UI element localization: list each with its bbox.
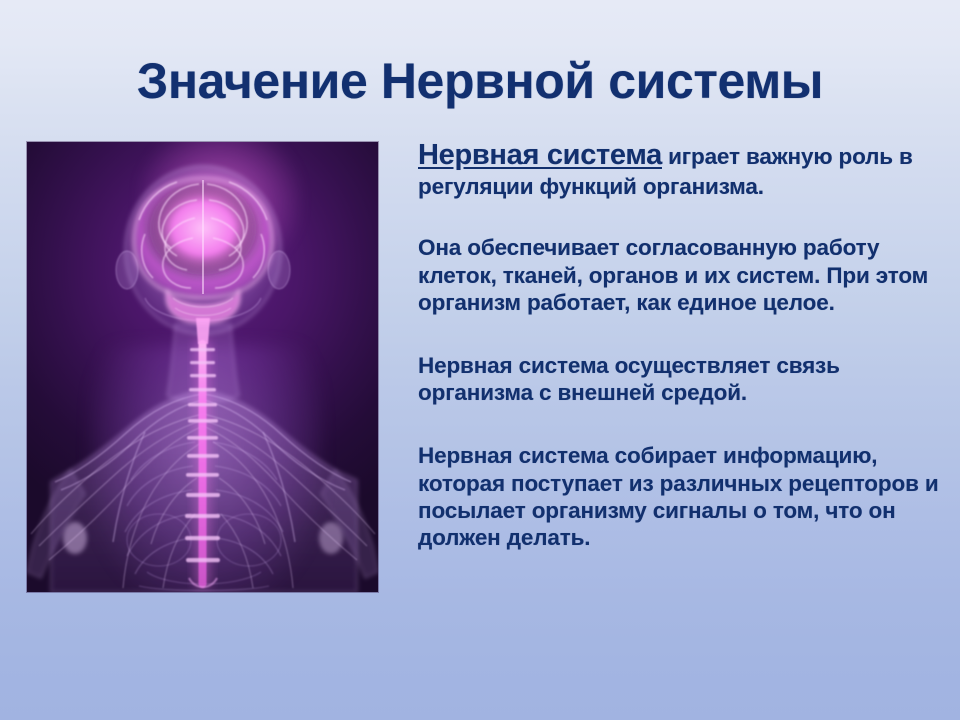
brain-stem: [196, 318, 210, 344]
brain: [133, 176, 273, 344]
anatomy-illustration-svg: [27, 142, 378, 592]
slide-title-container: Значение Нервной системы: [0, 20, 960, 141]
paragraph-3: Нервная система осуществляет связь орган…: [418, 352, 946, 406]
presentation-slide: Значение Нервной системы: [0, 0, 960, 720]
paragraph-2: Она обеспечивает согласованную работу кл…: [418, 234, 946, 316]
slide-text-column: Нервная система играет важную роль в рег…: [418, 138, 946, 551]
lead-term-nervous-system: Нервная система: [418, 139, 662, 171]
paragraph-1: Нервная система играет важную роль в рег…: [418, 138, 946, 200]
paragraph-4: Нервная система собирает информацию, кот…: [418, 442, 946, 551]
figure-inner: [27, 142, 378, 592]
page-title: Значение Нервной системы: [137, 54, 823, 108]
nervous-system-image: [27, 142, 378, 592]
